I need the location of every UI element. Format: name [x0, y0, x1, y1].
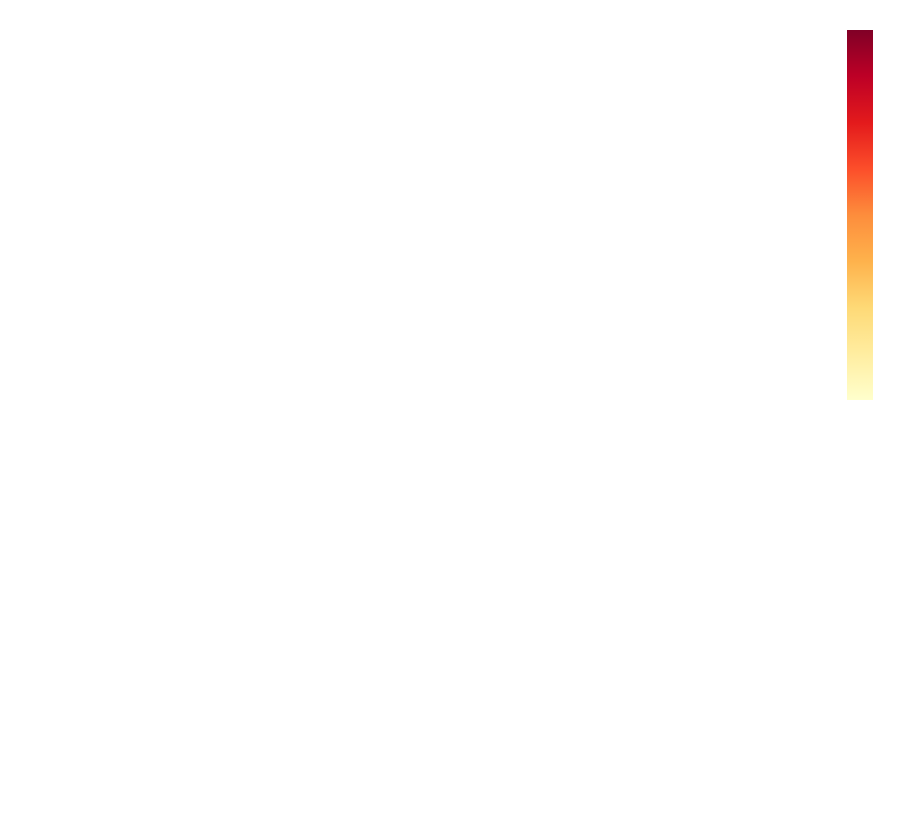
y-axis-tick-labels — [0, 30, 413, 400]
heatmap-grid — [420, 30, 820, 400]
colorbar-gradient — [847, 30, 873, 400]
x-axis-tick-labels — [420, 400, 820, 820]
heatmap-figure — [0, 0, 915, 826]
